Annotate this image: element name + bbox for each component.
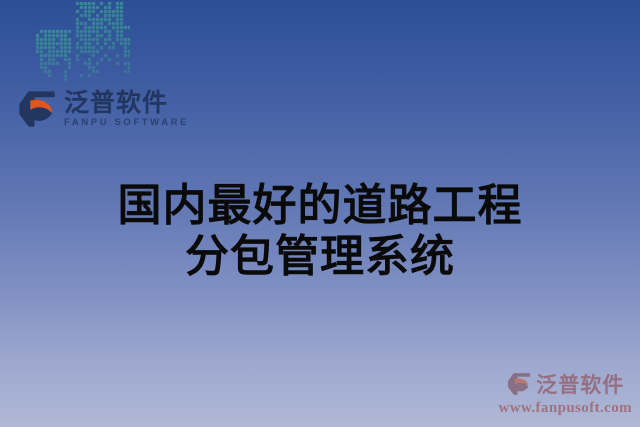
brand-name-cn: 泛普软件 xyxy=(64,90,189,115)
watermark-name-cn: 泛普软件 xyxy=(536,369,624,399)
fanpu-hexagon-swoosh-logo-icon xyxy=(506,371,532,397)
fanpu-hexagon-swoosh-logo-icon xyxy=(16,88,58,130)
headline-line-2: 分包管理系统 xyxy=(0,231,640,282)
promo-banner: 泛普软件 FANPU SOFTWARE 国内最好的道路工程 分包管理系统 泛普软… xyxy=(0,0,640,427)
brand-logo: 泛普软件 FANPU SOFTWARE xyxy=(16,88,189,130)
watermark: 泛普软件 www.fanpusoft.com xyxy=(499,369,632,417)
brand-wordmark: 泛普软件 FANPU SOFTWARE xyxy=(64,90,189,128)
watermark-url: www.fanpusoft.com xyxy=(499,400,632,417)
headline-line-1: 国内最好的道路工程 xyxy=(0,180,640,231)
page-title: 国内最好的道路工程 分包管理系统 xyxy=(0,180,640,283)
brand-name-en: FANPU SOFTWARE xyxy=(64,118,189,128)
pixel-cityscape-icon xyxy=(36,0,130,88)
watermark-brand: 泛普软件 xyxy=(506,369,624,399)
